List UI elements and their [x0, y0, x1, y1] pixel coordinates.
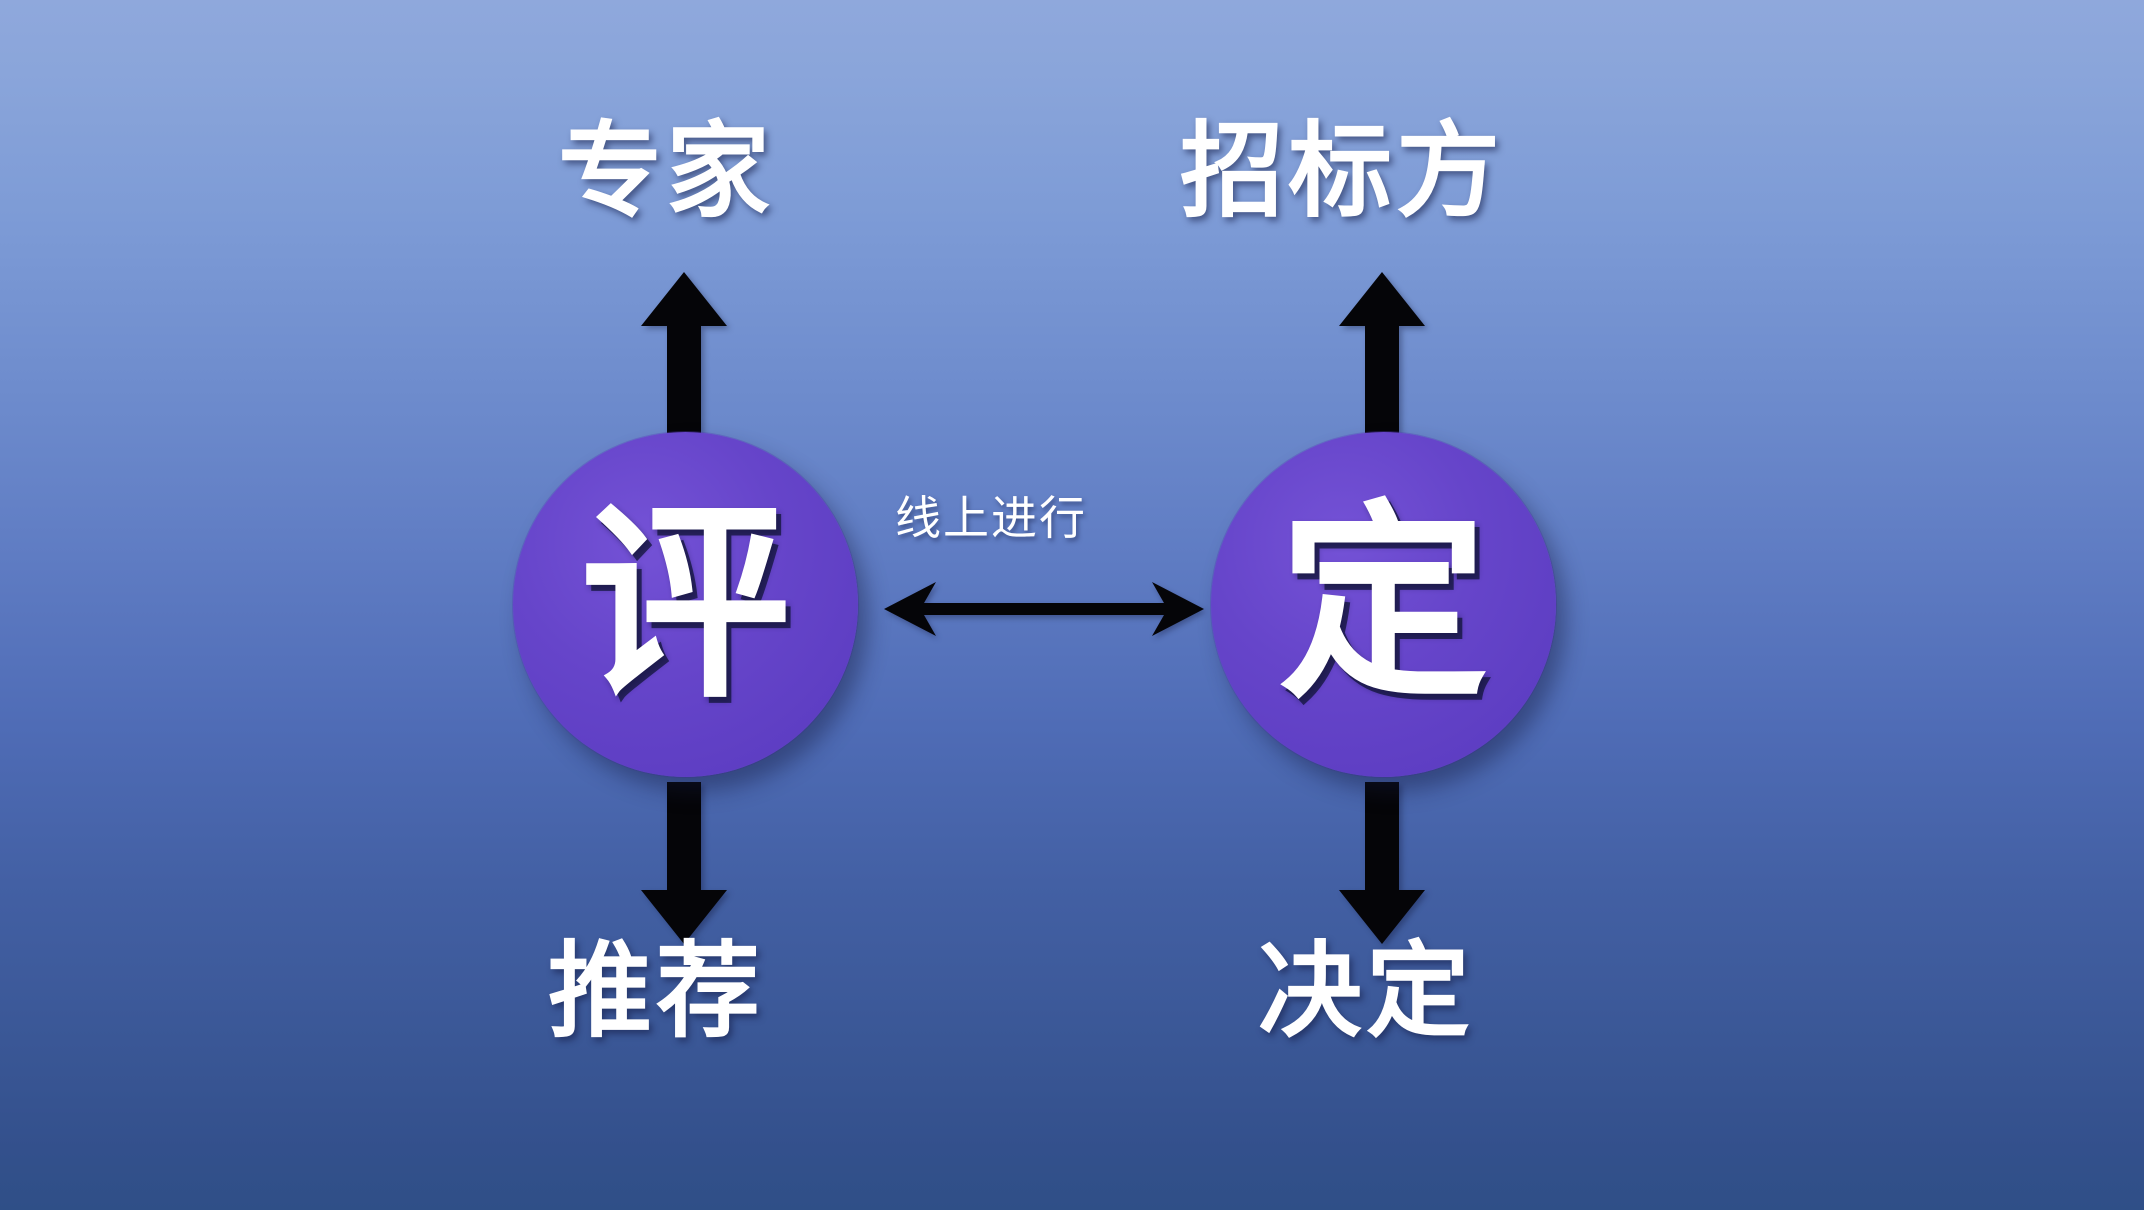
arrow-down-decide-icon — [1339, 782, 1425, 944]
arrow-up-expert-icon — [641, 272, 727, 434]
decision-node[interactable]: 定 — [1211, 432, 1556, 777]
label-decide: 决定 — [1258, 940, 1474, 1044]
arrow-bidirectional-icon — [884, 576, 1204, 642]
label-recommend: 推荐 — [548, 940, 764, 1044]
label-expert: 专家 — [558, 120, 774, 224]
evaluation-node[interactable]: 评 — [513, 432, 858, 777]
evaluation-node-char: 评 — [580, 500, 790, 710]
arrow-down-recommend-icon — [641, 782, 727, 944]
arrow-up-tenderer-icon — [1339, 272, 1425, 434]
decision-node-char: 定 — [1278, 500, 1488, 710]
diagram-canvas: 专家 招标方 评 定 线上进行 推荐 决定 — [0, 0, 2144, 1210]
label-online-process: 线上进行 — [895, 495, 1087, 541]
label-tenderer: 招标方 — [1180, 120, 1504, 224]
